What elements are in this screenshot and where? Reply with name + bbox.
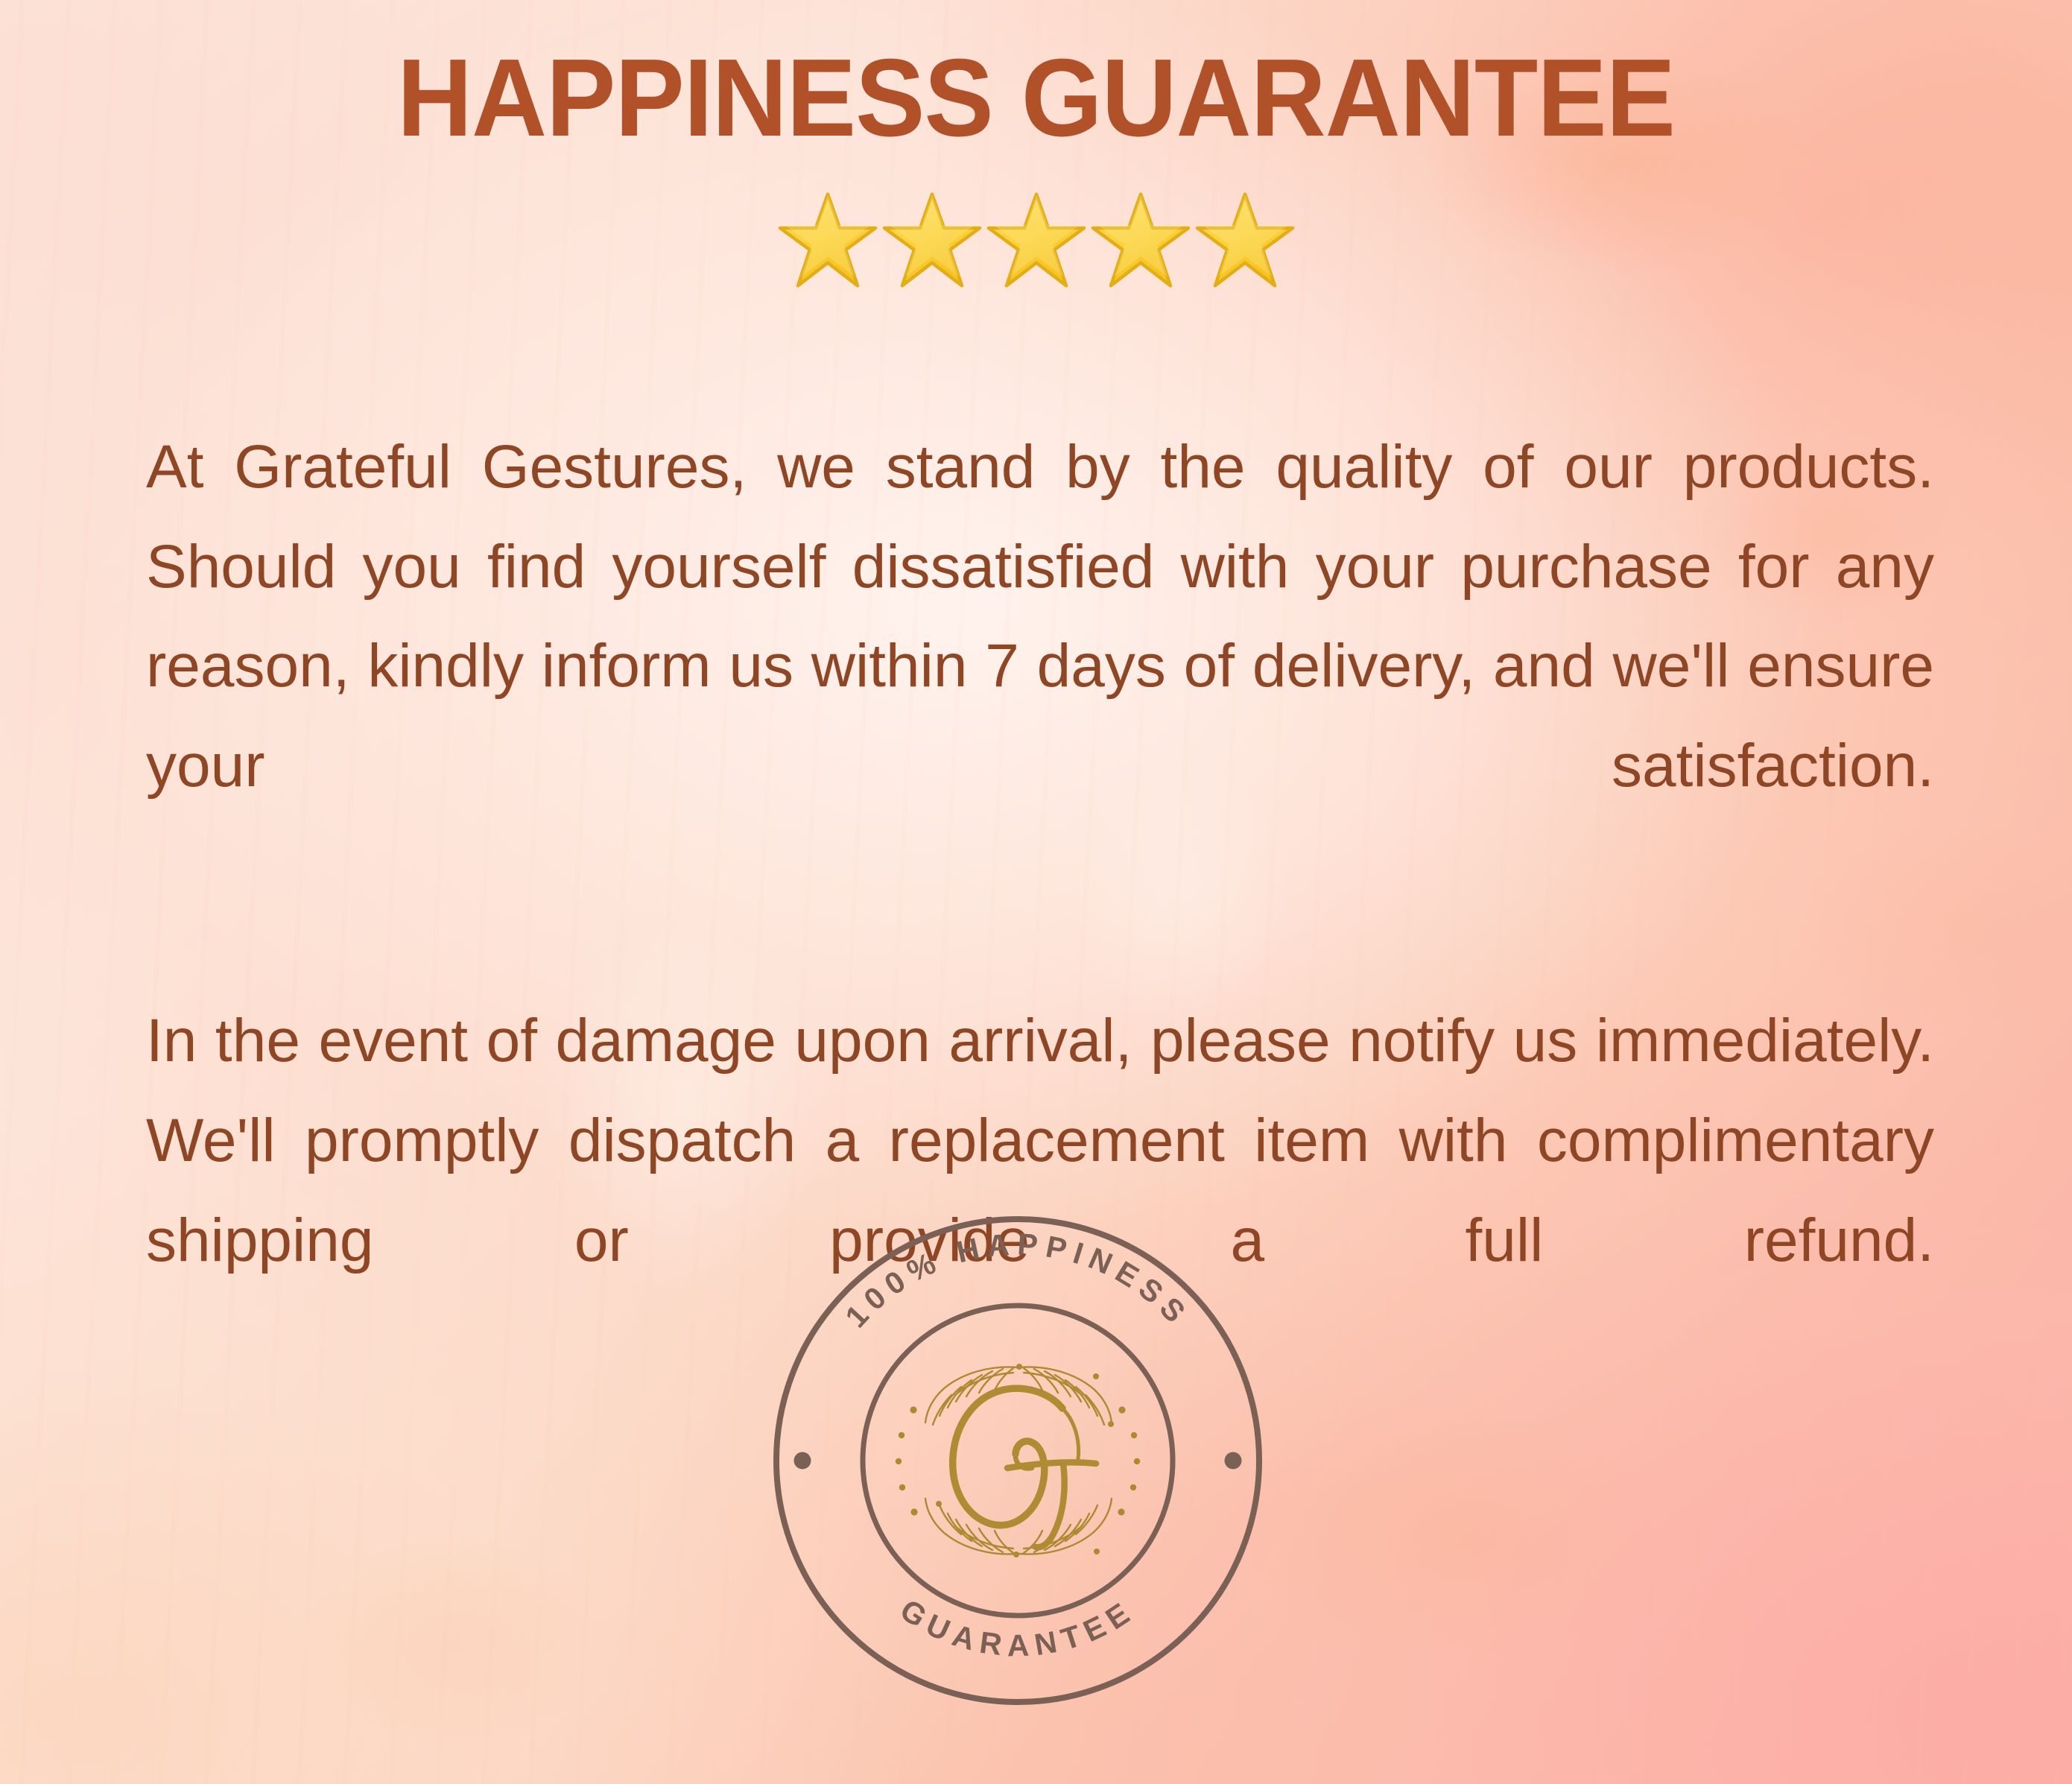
star-icon	[1091, 192, 1191, 288]
happiness-guarantee-seal: 100% HAPPINESS GUARANTEE	[767, 1186, 1268, 1735]
dot-icon	[896, 1406, 918, 1515]
star-icon	[1195, 192, 1295, 288]
page-title: HAPPINESS GUARANTEE	[57, 43, 2015, 154]
star-icon	[882, 192, 982, 288]
dot-icon	[1225, 1452, 1242, 1470]
dot-icon	[1118, 1406, 1140, 1515]
dot-icon	[794, 1452, 811, 1470]
seal-arc-bottom-textpath: GUARANTEE	[894, 1592, 1141, 1663]
laurel-wreath-icon	[925, 1364, 1114, 1427]
seal-arc-top-text: 100% HAPPINESS	[839, 1227, 1197, 1334]
seal-arc-bottom-text: GUARANTEE	[894, 1592, 1141, 1663]
laurel-wreath-icon	[925, 1499, 1112, 1557]
monogram-g-icon	[953, 1388, 1096, 1547]
star-rating	[0, 192, 2072, 288]
star-icon	[986, 192, 1086, 288]
star-icon	[778, 192, 878, 288]
guarantee-paragraph-1: At Grateful Gestures, we stand by the qu…	[146, 417, 1934, 915]
seal-monogram-group	[896, 1364, 1140, 1557]
poster-content: HAPPINESS GUARANTEE	[0, 0, 2072, 1784]
seal-arc-top-textpath: 100% HAPPINESS	[839, 1227, 1197, 1334]
